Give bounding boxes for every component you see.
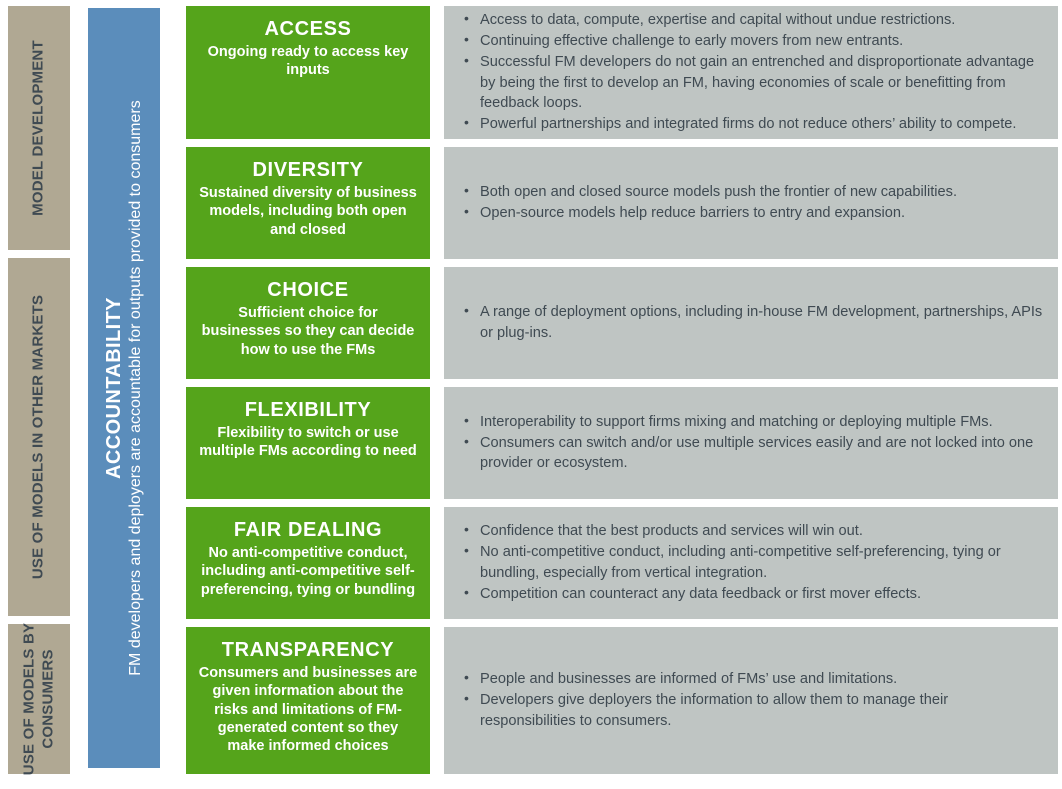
- detail-box-fair-dealing: Confidence that the best products and se…: [444, 507, 1058, 619]
- principle-subtitle-fair-dealing: No anti-competitive conduct, including a…: [198, 544, 418, 599]
- principle-row-flexibility: FLEXIBILITY Flexibility to switch or use…: [186, 387, 1062, 499]
- detail-box-choice: A range of deployment options, including…: [444, 267, 1058, 379]
- accountability-title: ACCOUNTABILITY: [103, 100, 126, 675]
- principle-subtitle-access: Ongoing ready to access key inputs: [198, 43, 418, 80]
- principle-box-transparency: TRANSPARENCY Consumers and businesses ar…: [186, 627, 430, 774]
- detail-box-flexibility: Interoperability to support firms mixing…: [444, 387, 1058, 499]
- principle-row-fair-dealing: FAIR DEALING No anti-competitive conduct…: [186, 507, 1062, 619]
- category-band-consumers: USE OF MODELS BY CONSUMERS: [8, 624, 70, 774]
- list-item: Interoperability to support firms mixing…: [462, 412, 1044, 432]
- principle-box-choice: CHOICE Sufficient choice for businesses …: [186, 267, 430, 379]
- principle-row-transparency: TRANSPARENCY Consumers and businesses ar…: [186, 627, 1062, 774]
- principle-row-choice: CHOICE Sufficient choice for businesses …: [186, 267, 1062, 379]
- detail-list-diversity: Both open and closed source models push …: [462, 182, 1044, 224]
- principle-row-access: ACCESS Ongoing ready to access key input…: [186, 6, 1062, 139]
- list-item: Competition can counteract any data feed…: [462, 584, 1044, 604]
- principle-row-diversity: DIVERSITY Sustained diversity of busines…: [186, 147, 1062, 259]
- category-band-model-development: MODEL DEVELOPMENT: [8, 6, 70, 250]
- list-item: Powerful partnerships and integrated fir…: [462, 114, 1044, 134]
- list-item: Open-source models help reduce barriers …: [462, 203, 1044, 223]
- principle-box-diversity: DIVERSITY Sustained diversity of busines…: [186, 147, 430, 259]
- list-item: Developers give deployers the informatio…: [462, 690, 1044, 730]
- principle-subtitle-choice: Sufficient choice for businesses so they…: [198, 304, 418, 359]
- accountability-subtitle: FM developers and deployers are accounta…: [127, 100, 145, 675]
- detail-box-transparency: People and businesses are informed of FM…: [444, 627, 1058, 774]
- category-band-other-markets: USE OF MODELS IN OTHER MARKETS: [8, 258, 70, 616]
- principle-subtitle-diversity: Sustained diversity of business models, …: [198, 184, 418, 239]
- list-item: A range of deployment options, including…: [462, 302, 1044, 342]
- detail-box-access: Access to data, compute, expertise and c…: [444, 6, 1058, 139]
- list-item: Continuing effective challenge to early …: [462, 31, 1044, 51]
- accountability-band: ACCOUNTABILITY FM developers and deploye…: [88, 8, 160, 768]
- detail-list-access: Access to data, compute, expertise and c…: [462, 10, 1044, 135]
- category-label-consumers: USE OF MODELS BY CONSUMERS: [20, 609, 58, 789]
- principle-title-access: ACCESS: [198, 18, 418, 41]
- accountability-text-group: ACCOUNTABILITY FM developers and deploye…: [103, 100, 145, 675]
- list-item: Confidence that the best products and se…: [462, 521, 1044, 541]
- diagram-canvas: MODEL DEVELOPMENT USE OF MODELS IN OTHER…: [0, 0, 1062, 776]
- principle-title-flexibility: FLEXIBILITY: [198, 399, 418, 422]
- detail-list-fair-dealing: Confidence that the best products and se…: [462, 521, 1044, 605]
- list-item: Successful FM developers do not gain an …: [462, 52, 1044, 112]
- detail-list-flexibility: Interoperability to support firms mixing…: [462, 412, 1044, 474]
- list-item: People and businesses are informed of FM…: [462, 669, 1044, 689]
- principle-title-fair-dealing: FAIR DEALING: [198, 519, 418, 542]
- detail-list-transparency: People and businesses are informed of FM…: [462, 669, 1044, 731]
- principle-subtitle-transparency: Consumers and businesses are given infor…: [198, 664, 418, 755]
- list-item: Consumers can switch and/or use multiple…: [462, 433, 1044, 473]
- principle-title-diversity: DIVERSITY: [198, 159, 418, 182]
- list-item: Access to data, compute, expertise and c…: [462, 10, 1044, 30]
- principle-title-choice: CHOICE: [198, 279, 418, 302]
- principle-box-flexibility: FLEXIBILITY Flexibility to switch or use…: [186, 387, 430, 499]
- principle-box-fair-dealing: FAIR DEALING No anti-competitive conduct…: [186, 507, 430, 619]
- principle-box-access: ACCESS Ongoing ready to access key input…: [186, 6, 430, 139]
- list-item: No anti-competitive conduct, including a…: [462, 542, 1044, 582]
- category-label-model-development: MODEL DEVELOPMENT: [30, 40, 49, 216]
- principle-subtitle-flexibility: Flexibility to switch or use multiple FM…: [198, 424, 418, 461]
- list-item: Both open and closed source models push …: [462, 182, 1044, 202]
- principle-title-transparency: TRANSPARENCY: [198, 639, 418, 662]
- detail-box-diversity: Both open and closed source models push …: [444, 147, 1058, 259]
- category-label-other-markets: USE OF MODELS IN OTHER MARKETS: [30, 295, 49, 579]
- detail-list-choice: A range of deployment options, including…: [462, 302, 1044, 343]
